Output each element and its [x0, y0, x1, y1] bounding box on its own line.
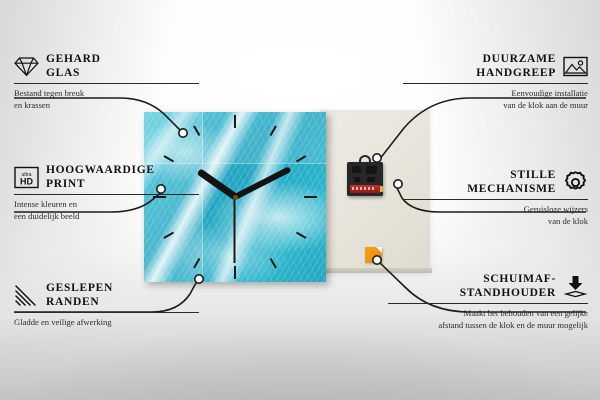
callout-duurzame-handgreep: DUURZAME HANDGREEP Eenvoudige installati… [403, 52, 588, 111]
callout-schuimafstandhouder: SCHUIMAF- STANDHOUDER Maakt het behouden… [388, 272, 588, 331]
callout-desc-line1: Geruisloze wijzers [403, 204, 588, 216]
clock-center-cap [233, 195, 238, 200]
callout-title-line1: SCHUIMAF- [483, 272, 556, 286]
callout-title-line2: HANDGREEP [476, 66, 556, 80]
mechanism-body [347, 162, 383, 196]
callout-title-line1: GEHARD [46, 52, 101, 66]
battery-label [352, 187, 375, 190]
callout-geslepen-randen: GESLEPEN RANDEN Gladde en veilige afwerk… [14, 281, 199, 329]
callout-divider [388, 303, 588, 304]
callout-divider [14, 83, 199, 84]
mechanism-detail-left [354, 177, 360, 182]
mechanism-detail-right [367, 177, 375, 182]
product-infographic: GEHARD GLAS Bestand tegen breuk en krass… [0, 0, 600, 400]
callout-hoogwaardige-print: ultra HD HOOGWAARDIGE PRINT Intense kleu… [14, 163, 199, 222]
callout-title-line2: PRINT [46, 177, 155, 191]
callout-desc-line2: een duidelijk beeld [14, 211, 199, 223]
callout-divider [14, 312, 199, 313]
callout-stille-mechanisme: STILLE MECHANISME Geruisloze wijzers van… [403, 168, 588, 227]
clock-tick [235, 196, 317, 198]
callout-desc-line2: van de klok aan de muur [403, 100, 588, 112]
callout-desc-line1: Gladde en veilige afwerking [14, 317, 199, 329]
callout-title-line1: HOOGWAARDIGE [46, 163, 155, 177]
callout-desc-line1: Intense kleuren en [14, 199, 199, 211]
callout-title-line2: GLAS [46, 66, 101, 80]
callout-desc-line1: Maakt het behouden van een gelijke [388, 308, 588, 320]
callout-desc-line1: Eenvoudige installatie [403, 88, 588, 100]
callout-divider [403, 199, 588, 200]
callout-desc-line2: van de klok [403, 216, 588, 228]
callout-title-line1: GESLEPEN [46, 281, 113, 295]
clock-tick [234, 115, 236, 197]
callout-title-line2: STANDHOUDER [460, 286, 556, 300]
ultra-hd-badge-icon: ultra HD [14, 165, 39, 190]
battery [350, 185, 380, 193]
picture-frame-icon [563, 54, 588, 79]
callout-title-line2: RANDEN [46, 295, 113, 309]
callout-desc-line2: en krassen [14, 100, 199, 112]
callout-divider [403, 83, 588, 84]
callout-desc-line1: Bestand tegen breuk [14, 88, 199, 100]
clock-mechanism [347, 162, 383, 196]
callout-title-line1: DUURZAME [483, 52, 556, 66]
callout-title-line2: MECHANISME [467, 182, 556, 196]
callout-gehard-glas: GEHARD GLAS Bestand tegen breuk en krass… [14, 52, 199, 111]
gear-icon [563, 170, 588, 195]
svg-text:HD: HD [20, 176, 33, 186]
callout-title-line1: STILLE [510, 168, 556, 182]
callout-divider [14, 194, 199, 195]
diamond-icon [14, 54, 39, 79]
callout-desc-line2: afstand tussen de klok en de muur mogeli… [388, 320, 588, 332]
adhesive-foam-pad [365, 247, 382, 263]
press-down-icon [563, 274, 588, 299]
beveled-edge-icon [14, 283, 39, 308]
